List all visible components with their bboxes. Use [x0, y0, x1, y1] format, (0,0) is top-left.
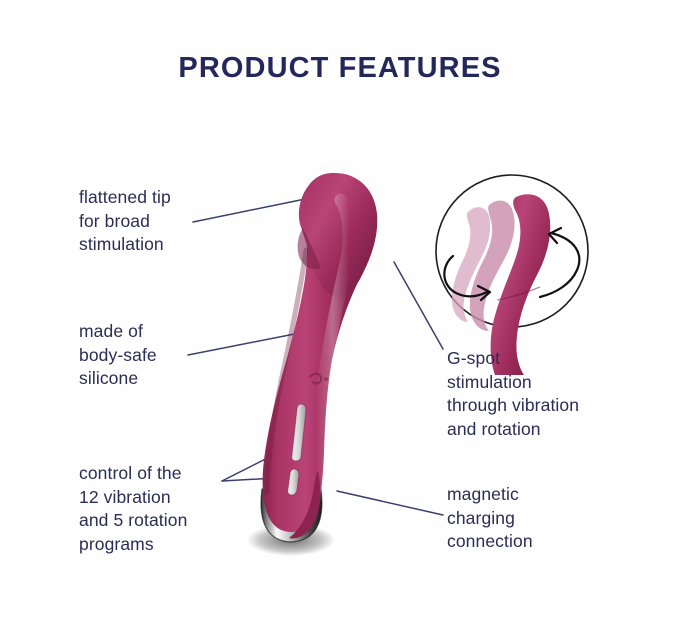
product-body-group	[247, 173, 377, 556]
callout-silicone: made of body-safe silicone	[79, 320, 229, 391]
rotation-motion-inset	[436, 175, 588, 375]
callout-flattened-tip: flattened tip for broad stimulation	[79, 186, 229, 257]
callout-gspot: G-spot stimulation through vibration and…	[447, 347, 622, 441]
callout-magnetic: magnetic charging connection	[447, 483, 607, 554]
callout-controls: control of the 12 vibration and 5 rotati…	[79, 462, 244, 556]
infographic-canvas: PRODUCT FEATURES	[0, 0, 680, 630]
leader-line-magnetic	[337, 491, 443, 515]
leader-line-gspot	[394, 262, 443, 349]
